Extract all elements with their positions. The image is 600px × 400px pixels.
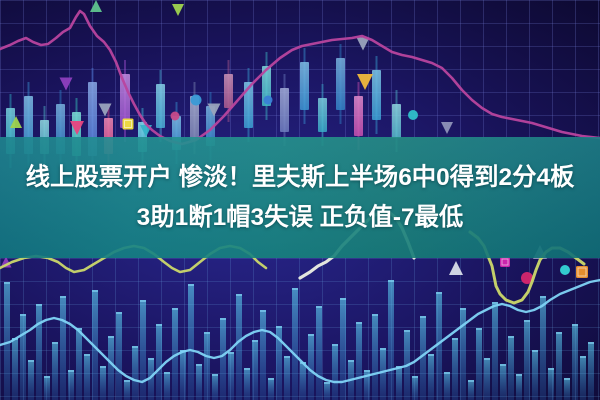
candle-sheen [156, 84, 165, 128]
candle-sheen [224, 74, 233, 108]
volume-bar [108, 336, 114, 400]
volume-bar [156, 324, 162, 400]
marker-circle [560, 265, 570, 275]
volume-bar [444, 372, 450, 400]
volume-bar [572, 324, 578, 400]
volume-bar-cap [268, 378, 274, 380]
volume-bar [412, 376, 418, 400]
volume-bar [372, 314, 378, 400]
volume-bar-cap [276, 326, 282, 328]
volume-bar-cap [60, 296, 66, 298]
marker-circle [408, 110, 418, 120]
volume-bar [556, 332, 562, 400]
volume-bar-cap [428, 354, 434, 356]
volume-bar [468, 380, 474, 400]
volume-bar-cap [324, 382, 330, 384]
promo-banner-image: 线上股票开户 惨淡！里夫斯上半场6中0得到2分4板 3助1断1帽3失误 正负值-… [0, 0, 600, 400]
volume-bar-cap [380, 348, 386, 350]
volume-bar-cap [436, 292, 442, 294]
volume-bar-cap [188, 284, 194, 286]
volume-bar-cap [492, 302, 498, 304]
volume-bar [532, 350, 538, 400]
candle-sheen [318, 98, 327, 132]
volume-bar-cap [452, 338, 458, 340]
volume-bar [284, 356, 290, 400]
volume-bar [548, 368, 554, 400]
volume-bar-cap [484, 358, 490, 360]
volume-bar [292, 288, 298, 400]
volume-bar-cap [372, 314, 378, 316]
volume-bar-cap [44, 376, 50, 378]
volume-bar-cap [52, 342, 58, 344]
volume-bar [300, 362, 306, 400]
volume-bar-cap [564, 378, 570, 380]
volume-bar [396, 366, 402, 400]
volume-bar [116, 312, 122, 400]
volume-bar-cap [68, 370, 74, 372]
volume-bar [76, 328, 82, 400]
volume-bar-cap [540, 296, 546, 298]
volume-bar [340, 298, 346, 400]
volume-bar [228, 352, 234, 400]
volume-bar-cap [316, 306, 322, 308]
volume-bar [324, 382, 330, 400]
volume-bar-cap [332, 344, 338, 346]
volume-bar [164, 372, 170, 400]
volume-bar-cap [476, 328, 482, 330]
volume-bar [476, 328, 482, 400]
volume-bar [460, 308, 466, 400]
volume-bar-cap [508, 336, 514, 338]
volume-bar-cap [260, 310, 266, 312]
volume-bar-cap [196, 364, 202, 366]
volume-bar-cap [516, 374, 522, 376]
volume-bar [132, 346, 138, 400]
volume-bar [252, 340, 258, 400]
volume-bar-cap [20, 314, 26, 316]
volume-bar-cap [108, 336, 114, 338]
volume-bar [44, 376, 50, 400]
volume-bar-cap [204, 332, 210, 334]
volume-bar-cap [164, 372, 170, 374]
volume-bar-cap [468, 380, 474, 382]
volume-bar [540, 296, 546, 400]
volume-bar-cap [212, 374, 218, 376]
volume-bar-cap [148, 358, 154, 360]
marker-triangle-down [99, 104, 112, 117]
marker-triangle-down [172, 4, 184, 16]
volume-bar [204, 332, 210, 400]
volume-bar-cap [92, 290, 98, 292]
volume-bar-cap [236, 294, 242, 296]
volume-bar-cap [4, 282, 10, 284]
volume-bar [492, 302, 498, 400]
volume-bar-cap [284, 356, 290, 358]
headline-line-2: 3助1断1帽3失误 正负值-7最低 [137, 201, 464, 235]
volume-bar [380, 348, 386, 400]
volume-bar [36, 304, 42, 400]
volume-bar [20, 314, 26, 400]
volume-bar-cap [524, 320, 530, 322]
volume-bar [588, 342, 594, 400]
volume-bar [452, 338, 458, 400]
volume-bar-cap [444, 372, 450, 374]
volume-bar-cap [460, 308, 466, 310]
volume-bar-cap [36, 304, 42, 306]
volume-bar-cap [156, 324, 162, 326]
candle-sheen [372, 70, 381, 120]
volume-bar [260, 310, 266, 400]
volume-bar [196, 364, 202, 400]
volume-bar-cap [532, 350, 538, 352]
headline-line-1: 线上股票开户 惨淡！里夫斯上半场6中0得到2分4板 [26, 161, 575, 195]
volume-bar [220, 318, 226, 400]
volume-bar-cap [572, 324, 578, 326]
volume-bar-cap [356, 322, 362, 324]
volume-bar [316, 306, 322, 400]
volume-bar-cap [140, 300, 146, 302]
volume-bar [564, 378, 570, 400]
volume-bar-cap [124, 380, 130, 382]
volume-bar [524, 320, 530, 400]
volume-bar-cap [172, 308, 178, 310]
volume-bar [140, 300, 146, 400]
volume-bar-cap [388, 280, 394, 282]
volume-bar-cap [412, 376, 418, 378]
volume-bar [100, 366, 106, 400]
volume-bar-cap [364, 370, 370, 372]
volume-bar [356, 322, 362, 400]
candle-sheen [280, 88, 289, 132]
volume-bar-cap [348, 360, 354, 362]
volume-bar [244, 368, 250, 400]
candle-sheen [392, 104, 401, 138]
volume-bar [212, 374, 218, 400]
volume-bar-cap [116, 312, 122, 314]
volume-bar [124, 380, 130, 400]
volume-bar [332, 344, 338, 400]
volume-bar [12, 338, 18, 400]
volume-bar-cap [84, 354, 90, 356]
volume-bar-cap [132, 346, 138, 348]
candle-sheen [336, 58, 345, 110]
marker-circle [264, 96, 273, 105]
volume-bar [268, 378, 274, 400]
marker-triangle-up [449, 261, 463, 275]
volume-bar [508, 336, 514, 400]
marker-circle [191, 95, 202, 106]
volume-bar [52, 342, 58, 400]
volume-bar-cap [420, 316, 426, 318]
volume-bar [180, 350, 186, 400]
volume-bar-cap [28, 360, 34, 362]
marker-triangle-up [90, 0, 102, 12]
volume-bar [388, 280, 394, 400]
volume-bar-cap [252, 340, 258, 342]
volume-bar-cap [340, 298, 346, 300]
volume-bar-cap [580, 356, 586, 358]
volume-bar [188, 284, 194, 400]
volume-bar-cap [244, 368, 250, 370]
candle-sheen [300, 62, 309, 110]
volume-bar-cap [500, 364, 506, 366]
volume-bar-cap [100, 366, 106, 368]
candle-sheen [354, 96, 363, 136]
volume-bar [308, 334, 314, 400]
headline-block: 线上股票开户 惨淡！里夫斯上半场6中0得到2分4板 3助1断1帽3失误 正负值-… [0, 137, 600, 258]
volume-bar [236, 294, 242, 400]
volume-bar [516, 374, 522, 400]
volume-bar-cap [556, 332, 562, 334]
volume-bar-cap [292, 288, 298, 290]
volume-bar-cap [404, 330, 410, 332]
volume-bar [84, 354, 90, 400]
volume-bar [500, 364, 506, 400]
volume-bar-cap [548, 368, 554, 370]
volume-bar [28, 360, 34, 400]
volume-bar [60, 296, 66, 400]
volume-bar [484, 358, 490, 400]
marker-triangle-down [441, 122, 453, 134]
marker-circle [171, 112, 180, 121]
volume-bar-cap [588, 342, 594, 344]
volume-bar [428, 354, 434, 400]
volume-bar [4, 282, 10, 400]
volume-bar-cap [308, 334, 314, 336]
marker-triangle-down [60, 78, 73, 91]
volume-bar-cap [220, 318, 226, 320]
volume-bar [580, 356, 586, 400]
volume-bar [68, 370, 74, 400]
